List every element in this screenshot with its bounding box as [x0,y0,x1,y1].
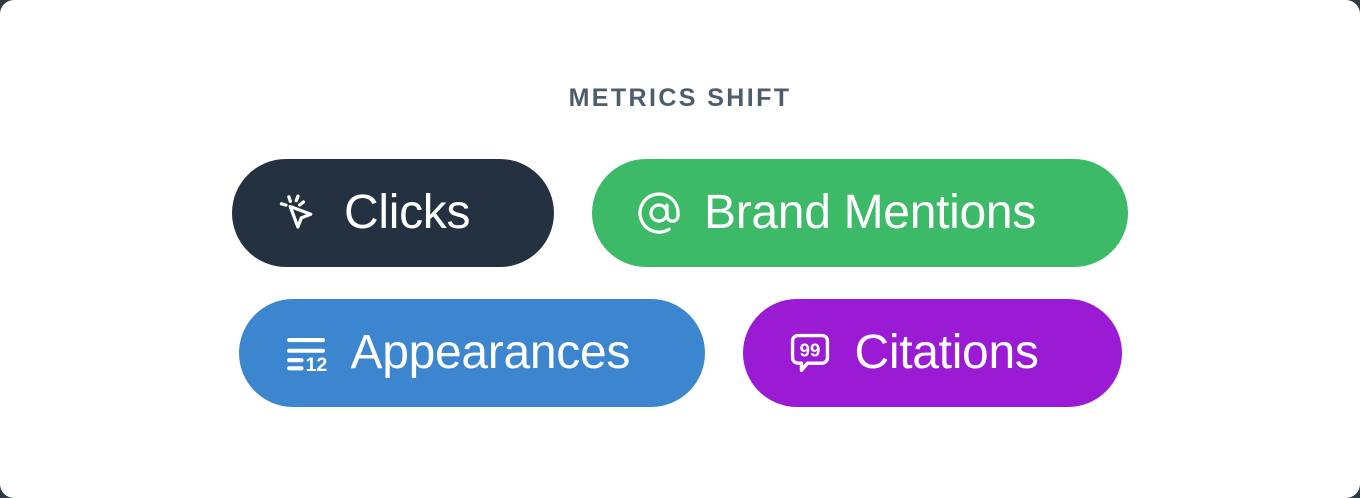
metric-pill-citations[interactable]: 99 Citations [743,299,1122,407]
metric-pill-label: Citations [855,326,1039,380]
metric-pill-label: Clicks [344,186,470,240]
ranked-list-12-icon: 12 [279,326,333,380]
metrics-shift-card: METRICS SHIFT Clicks [0,0,1360,498]
metric-pill-label: Appearances [351,326,631,380]
ranked-list-number: 12 [305,354,327,376]
cursor-click-icon [272,186,326,240]
metrics-row: 12 Appearances 99 Citations [239,299,1122,407]
page-title: METRICS SHIFT [0,82,1360,114]
metrics-row: Clicks Brand Mentions [232,159,1128,267]
quote-bubble-99-icon: 99 [783,326,837,380]
at-sign-icon [632,186,686,240]
metric-pill-brand-mentions[interactable]: Brand Mentions [592,159,1128,267]
metric-pill-label: Brand Mentions [704,186,1036,240]
metric-pill-appearances[interactable]: 12 Appearances [239,299,705,407]
metric-pill-clicks[interactable]: Clicks [232,159,554,267]
metrics-pill-grid: Clicks Brand Mentions [0,159,1360,407]
quote-bubble-number: 99 [799,340,820,361]
